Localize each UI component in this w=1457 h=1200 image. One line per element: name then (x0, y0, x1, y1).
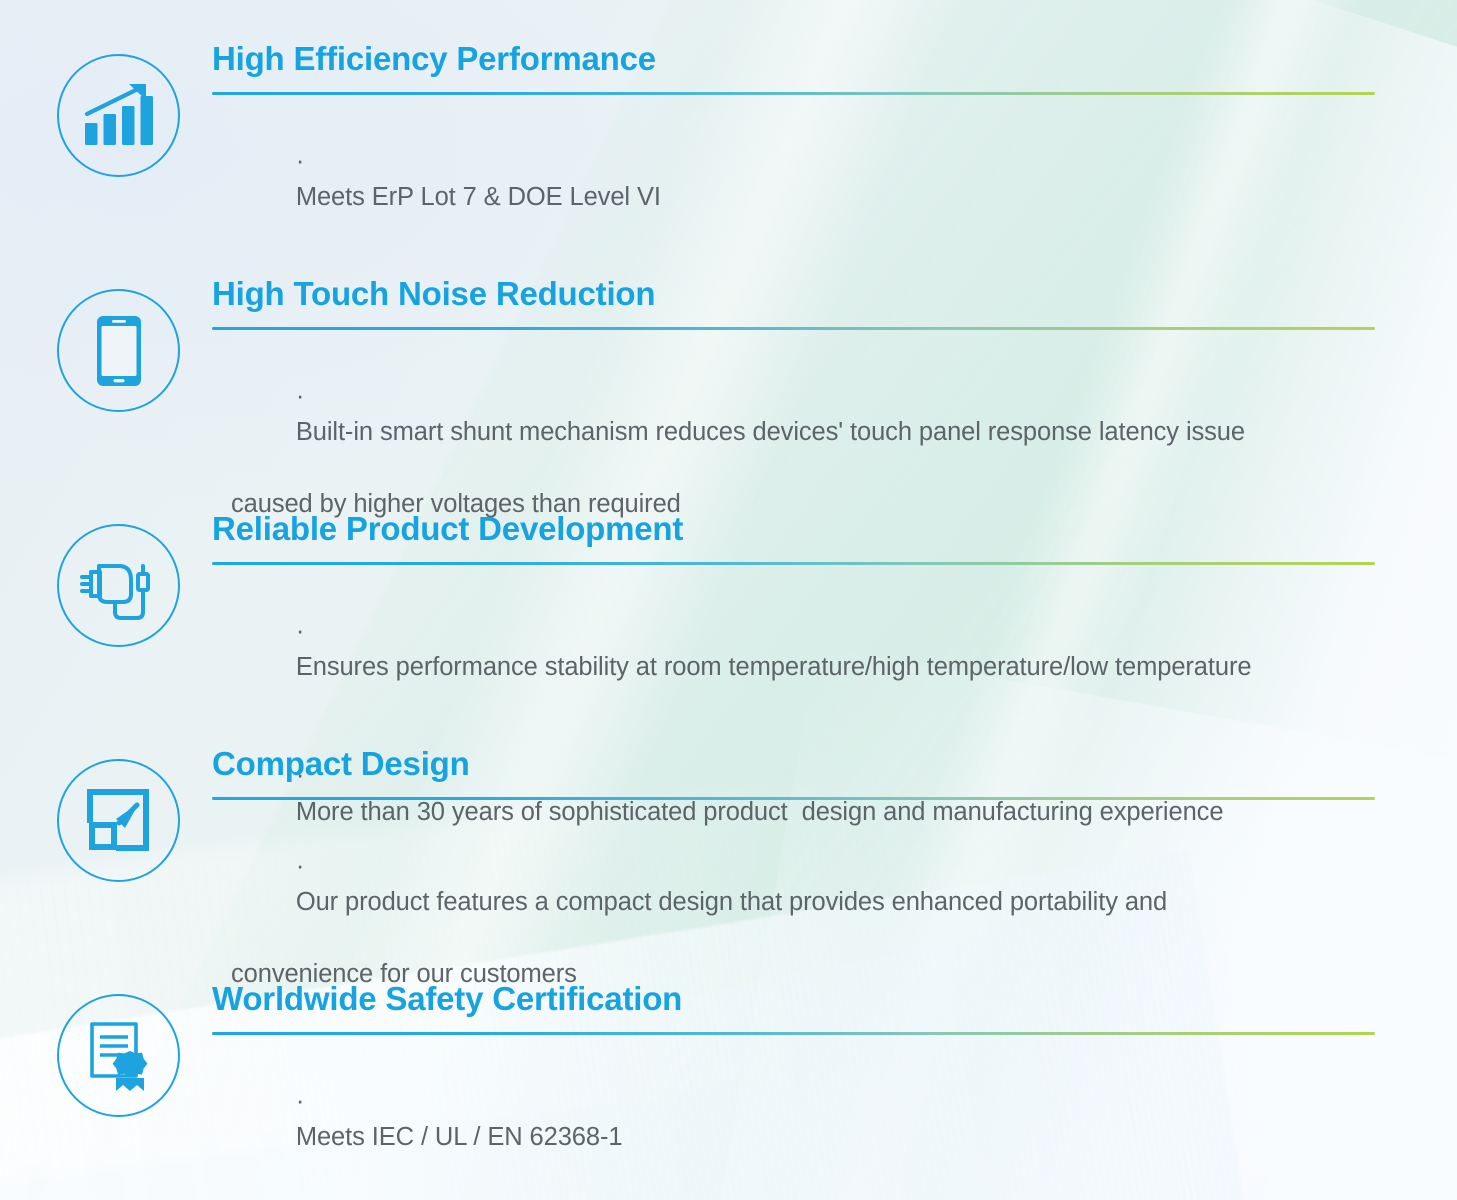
bullet-text: Meets ErP Lot 7 & DOE Level VI (296, 183, 661, 211)
feature-body: High Touch Noise Reduction · Built-in sm… (212, 276, 1375, 522)
feature-divider-rule (212, 562, 1375, 565)
feature-item-high-touch-noise-reduction: High Touch Noise Reduction · Built-in sm… (0, 276, 1457, 511)
bullet-text: Ensures performance stability at room te… (296, 653, 1252, 681)
feature-bullets: · Our product features a compact design … (212, 811, 1375, 992)
compact-shrink-icon (57, 759, 180, 882)
feature-body: High Efficiency Performance · Meets ErP … (212, 41, 1375, 251)
bullet-text: Meets IEC / UL / EN 62368-1 (296, 1123, 623, 1151)
feature-divider-rule (212, 797, 1375, 800)
feature-bullets: · Meets IEC / UL / EN 62368-1 (212, 1046, 1375, 1191)
feature-bullets: · Built-in smart shunt mechanism reduces… (212, 341, 1375, 522)
feature-title: High Efficiency Performance (212, 41, 1375, 77)
bullet-marker: · (296, 147, 304, 175)
feature-divider-rule (212, 327, 1375, 330)
bar-chart-growth-icon (57, 54, 180, 177)
bullet-text: Our product features a compact design th… (296, 888, 1167, 916)
smartphone-icon (57, 289, 180, 412)
feature-item-high-efficiency-performance: High Efficiency Performance · Meets ErP … (0, 41, 1457, 276)
bullet-line: · Meets ErP Lot 7 & DOE Level VI (212, 106, 1375, 251)
feature-divider-rule (212, 1032, 1375, 1035)
feature-title: Compact Design (212, 746, 1375, 782)
feature-divider-rule (212, 92, 1375, 95)
bullet-marker: · (296, 852, 304, 880)
feature-body: Compact Design · Our product features a … (212, 746, 1375, 992)
power-adapter-icon (57, 524, 180, 647)
bullet-line: · Our product features a compact design … (212, 811, 1375, 956)
bullet-marker: · (296, 1087, 304, 1115)
feature-body: Worldwide Safety Certification · Meets I… (212, 981, 1375, 1191)
feature-item-reliable-product-development: Reliable Product Development · Ensures p… (0, 511, 1457, 746)
feature-list: High Efficiency Performance · Meets ErP … (0, 0, 1457, 1200)
bullet-marker: · (296, 617, 304, 645)
bullet-text: Built-in smart shunt mechanism reduces d… (296, 418, 1245, 446)
feature-item-worldwide-safety-certification: Worldwide Safety Certification · Meets I… (0, 981, 1457, 1200)
bullet-line: · Ensures performance stability at room … (212, 576, 1375, 721)
feature-item-compact-design: Compact Design · Our product features a … (0, 746, 1457, 981)
feature-highlights-page: High Efficiency Performance · Meets ErP … (0, 0, 1457, 1200)
feature-title: Worldwide Safety Certification (212, 981, 1375, 1017)
bullet-line: · Meets IEC / UL / EN 62368-1 (212, 1046, 1375, 1191)
bullet-line: · Built-in smart shunt mechanism reduces… (212, 341, 1375, 486)
feature-title: Reliable Product Development (212, 511, 1375, 547)
bullet-marker: · (296, 382, 304, 410)
certificate-seal-icon (57, 994, 180, 1117)
feature-bullets: · Meets ErP Lot 7 & DOE Level VI (212, 106, 1375, 251)
feature-title: High Touch Noise Reduction (212, 276, 1375, 312)
